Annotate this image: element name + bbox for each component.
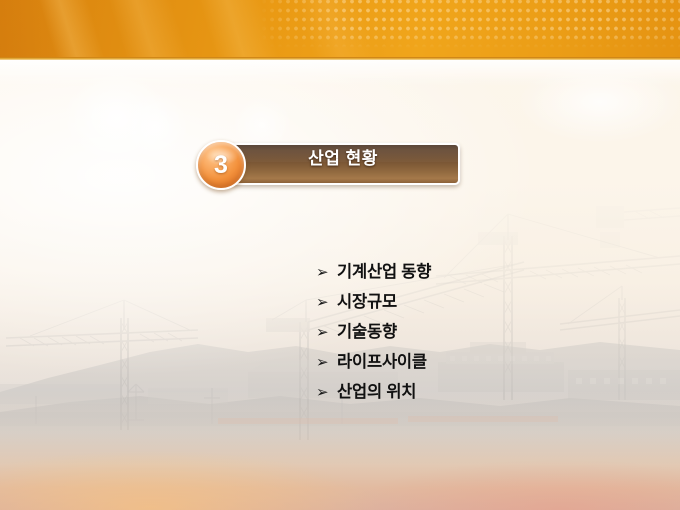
list-item[interactable]: ➢ 기계산업 동향 — [316, 258, 431, 288]
section-number-text: 3 — [198, 142, 244, 188]
top-banner — [0, 0, 680, 57]
banner-dot-pattern — [260, 0, 680, 48]
list-item-label: 기술동향 — [337, 318, 397, 342]
list-item-label: 라이프사이클 — [337, 348, 427, 372]
list-item-label: 산업의 위치 — [337, 378, 416, 402]
arrowhead-bullet-icon: ➢ — [316, 383, 337, 401]
list-item-label: 기계산업 동향 — [337, 258, 431, 282]
list-item[interactable]: ➢ 라이프사이클 — [316, 348, 431, 378]
list-item[interactable]: ➢ 산업의 위치 — [316, 378, 431, 408]
arrowhead-bullet-icon: ➢ — [316, 323, 337, 341]
section-title-group: 산업 현황 3 — [196, 140, 460, 188]
section-number-badge: 3 — [196, 140, 246, 190]
list-item-label: 시장규모 — [337, 288, 397, 312]
background-photo — [0, 0, 680, 510]
agenda-list: ➢ 기계산업 동향 ➢ 시장규모 ➢ 기술동향 ➢ 라이프사이클 ➢ 산업의 위… — [316, 258, 431, 408]
arrowhead-bullet-icon: ➢ — [316, 353, 337, 371]
banner-underline — [0, 57, 680, 60]
list-item[interactable]: ➢ 시장규모 — [316, 288, 431, 318]
presentation-slide: 산업 현황 3 ➢ 기계산업 동향 ➢ 시장규모 ➢ 기술동향 ➢ 라이프사이클… — [0, 0, 680, 510]
list-item[interactable]: ➢ 기술동향 — [316, 318, 431, 348]
arrowhead-bullet-icon: ➢ — [316, 293, 337, 311]
arrowhead-bullet-icon: ➢ — [316, 263, 337, 281]
